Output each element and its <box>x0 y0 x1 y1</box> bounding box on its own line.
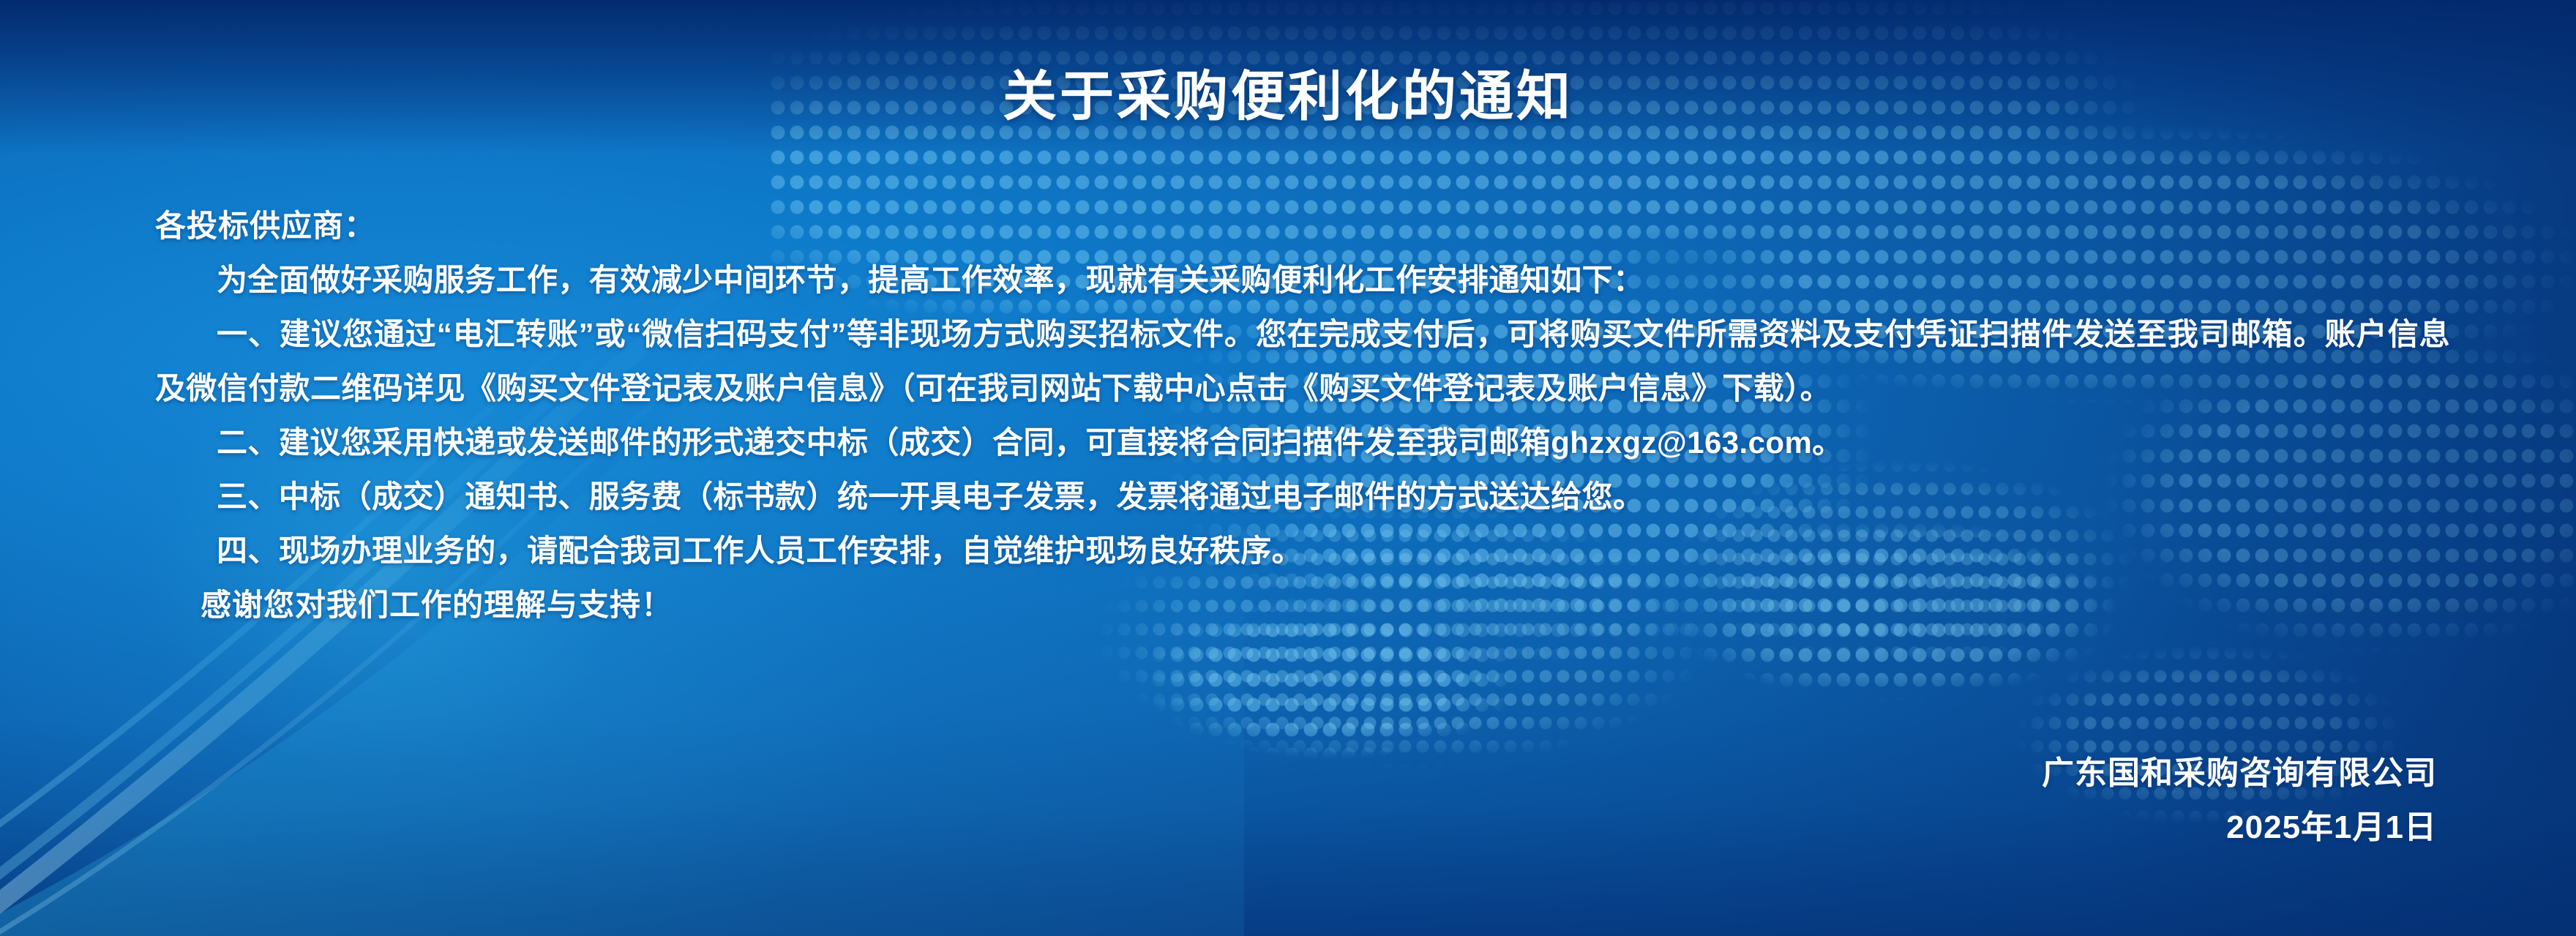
notice-body: 各投标供应商： 为全面做好采购服务工作，有效减少中间环节，提高工作效率，现就有关… <box>155 199 2450 632</box>
signature-date: 2025年1月1日 <box>2042 801 2437 855</box>
closing-line: 感谢您对我们工作的理解与支持！ <box>155 578 2450 632</box>
notice-content: 关于采购便利化的通知 各投标供应商： 为全面做好采购服务工作，有效减少中间环节，… <box>0 0 2576 936</box>
notice-item-1: 一、建议您通过“电汇转账”或“微信扫码支付”等非现场方式购买招标文件。您在完成支… <box>155 307 2450 416</box>
notice-banner: 关于采购便利化的通知 各投标供应商： 为全面做好采购服务工作，有效减少中间环节，… <box>0 0 2576 936</box>
salutation: 各投标供应商： <box>155 199 2450 253</box>
notice-item-4: 四、现场办理业务的，请配合我司工作人员工作安排，自觉维护现场良好秩序。 <box>155 524 2450 578</box>
page-title: 关于采购便利化的通知 <box>0 53 2576 131</box>
notice-item-3: 三、中标（成交）通知书、服务费（标书款）统一开具电子发票，发票将通过电子邮件的方… <box>155 470 2450 524</box>
notice-item-2: 二、建议您采用快递或发送邮件的形式递交中标（成交）合同，可直接将合同扫描件发至我… <box>155 416 2450 470</box>
signature-company: 广东国和采购咨询有限公司 <box>2042 746 2437 801</box>
signature-block: 广东国和采购咨询有限公司 2025年1月1日 <box>2042 746 2437 855</box>
intro-paragraph: 为全面做好采购服务工作，有效减少中间环节，提高工作效率，现就有关采购便利化工作安… <box>155 253 2450 307</box>
